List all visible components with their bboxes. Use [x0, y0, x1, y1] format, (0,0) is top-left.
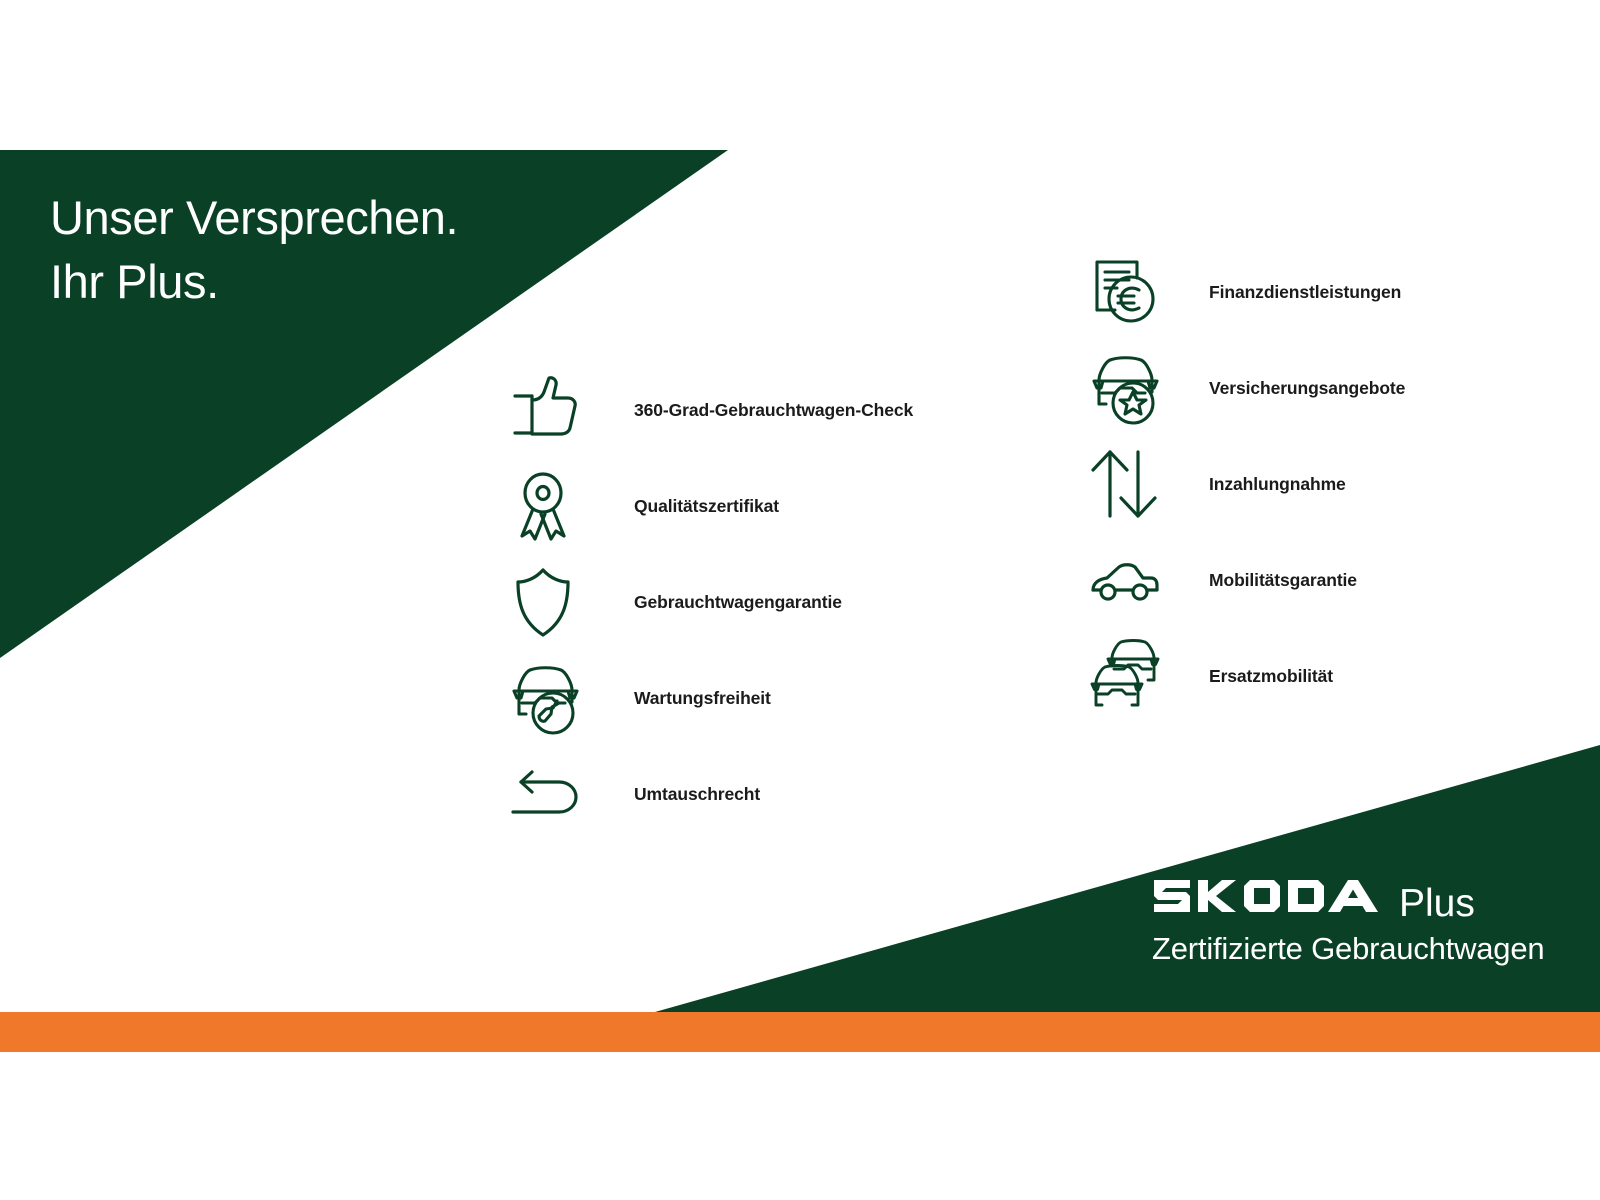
return-arrow-icon: [505, 749, 595, 839]
feature-item: Mobilitätsgarantie: [1085, 532, 1405, 628]
thumbs-up-icon: [505, 365, 595, 455]
up-down-arrows-icon: [1085, 439, 1175, 529]
feature-item: 360-Grad-Gebrauchtwagen-Check: [505, 362, 913, 458]
feature-item: Versicherungsangebote: [1085, 340, 1405, 436]
headline: Unser Versprechen. Ihr Plus.: [50, 186, 670, 314]
brand-tagline: Zertifizierte Gebrauchtwagen: [1152, 933, 1544, 964]
two-cars-icon: [1085, 631, 1175, 721]
feature-label: Qualitätszertifikat: [634, 496, 779, 517]
feature-item: Wartungsfreiheit: [505, 650, 913, 746]
orange-accent-band: [0, 1012, 1600, 1052]
feature-label: 360-Grad-Gebrauchtwagen-Check: [634, 400, 913, 421]
skoda-wordmark: [1152, 876, 1384, 916]
shield-icon: [505, 557, 595, 647]
brand-plus-label: Plus: [1399, 884, 1475, 923]
feature-item: Inzahlungnahme: [1085, 436, 1405, 532]
feature-item: Ersatzmobilität: [1085, 628, 1405, 724]
feature-list-left: 360-Grad-Gebrauchtwagen-Check Qualitätsz…: [505, 362, 913, 842]
feature-label: Versicherungsangebote: [1209, 378, 1405, 399]
brand-primary-row: Plus: [1152, 876, 1544, 920]
feature-item: Qualitätszertifikat: [505, 458, 913, 554]
feature-label: Mobilitätsgarantie: [1209, 570, 1357, 591]
car-wrench-icon: [505, 653, 595, 743]
feature-item: Gebrauchtwagengarantie: [505, 554, 913, 650]
car-side-icon: [1085, 535, 1175, 625]
award-rosette-icon: [505, 461, 595, 551]
feature-label: Ersatzmobilität: [1209, 666, 1333, 687]
feature-item: Finanzdienstleistungen: [1085, 244, 1405, 340]
document-euro-icon: [1085, 247, 1175, 337]
feature-label: Finanzdienstleistungen: [1209, 282, 1401, 303]
feature-label: Gebrauchtwagengarantie: [634, 592, 842, 613]
feature-label: Umtauschrecht: [634, 784, 760, 805]
feature-label: Inzahlungnahme: [1209, 474, 1346, 495]
feature-list-right: Finanzdienstleistungen Versicherungsange…: [1085, 244, 1405, 724]
feature-item: Umtauschrecht: [505, 746, 913, 842]
skoda-plus-promo-graphic: Unser Versprechen. Ihr Plus. 360-Grad-Ge…: [0, 0, 1600, 1200]
feature-label: Wartungsfreiheit: [634, 688, 771, 709]
car-star-icon: [1085, 343, 1175, 433]
brand-lockup: Plus Zertifizierte Gebrauchtwagen: [1152, 876, 1544, 964]
